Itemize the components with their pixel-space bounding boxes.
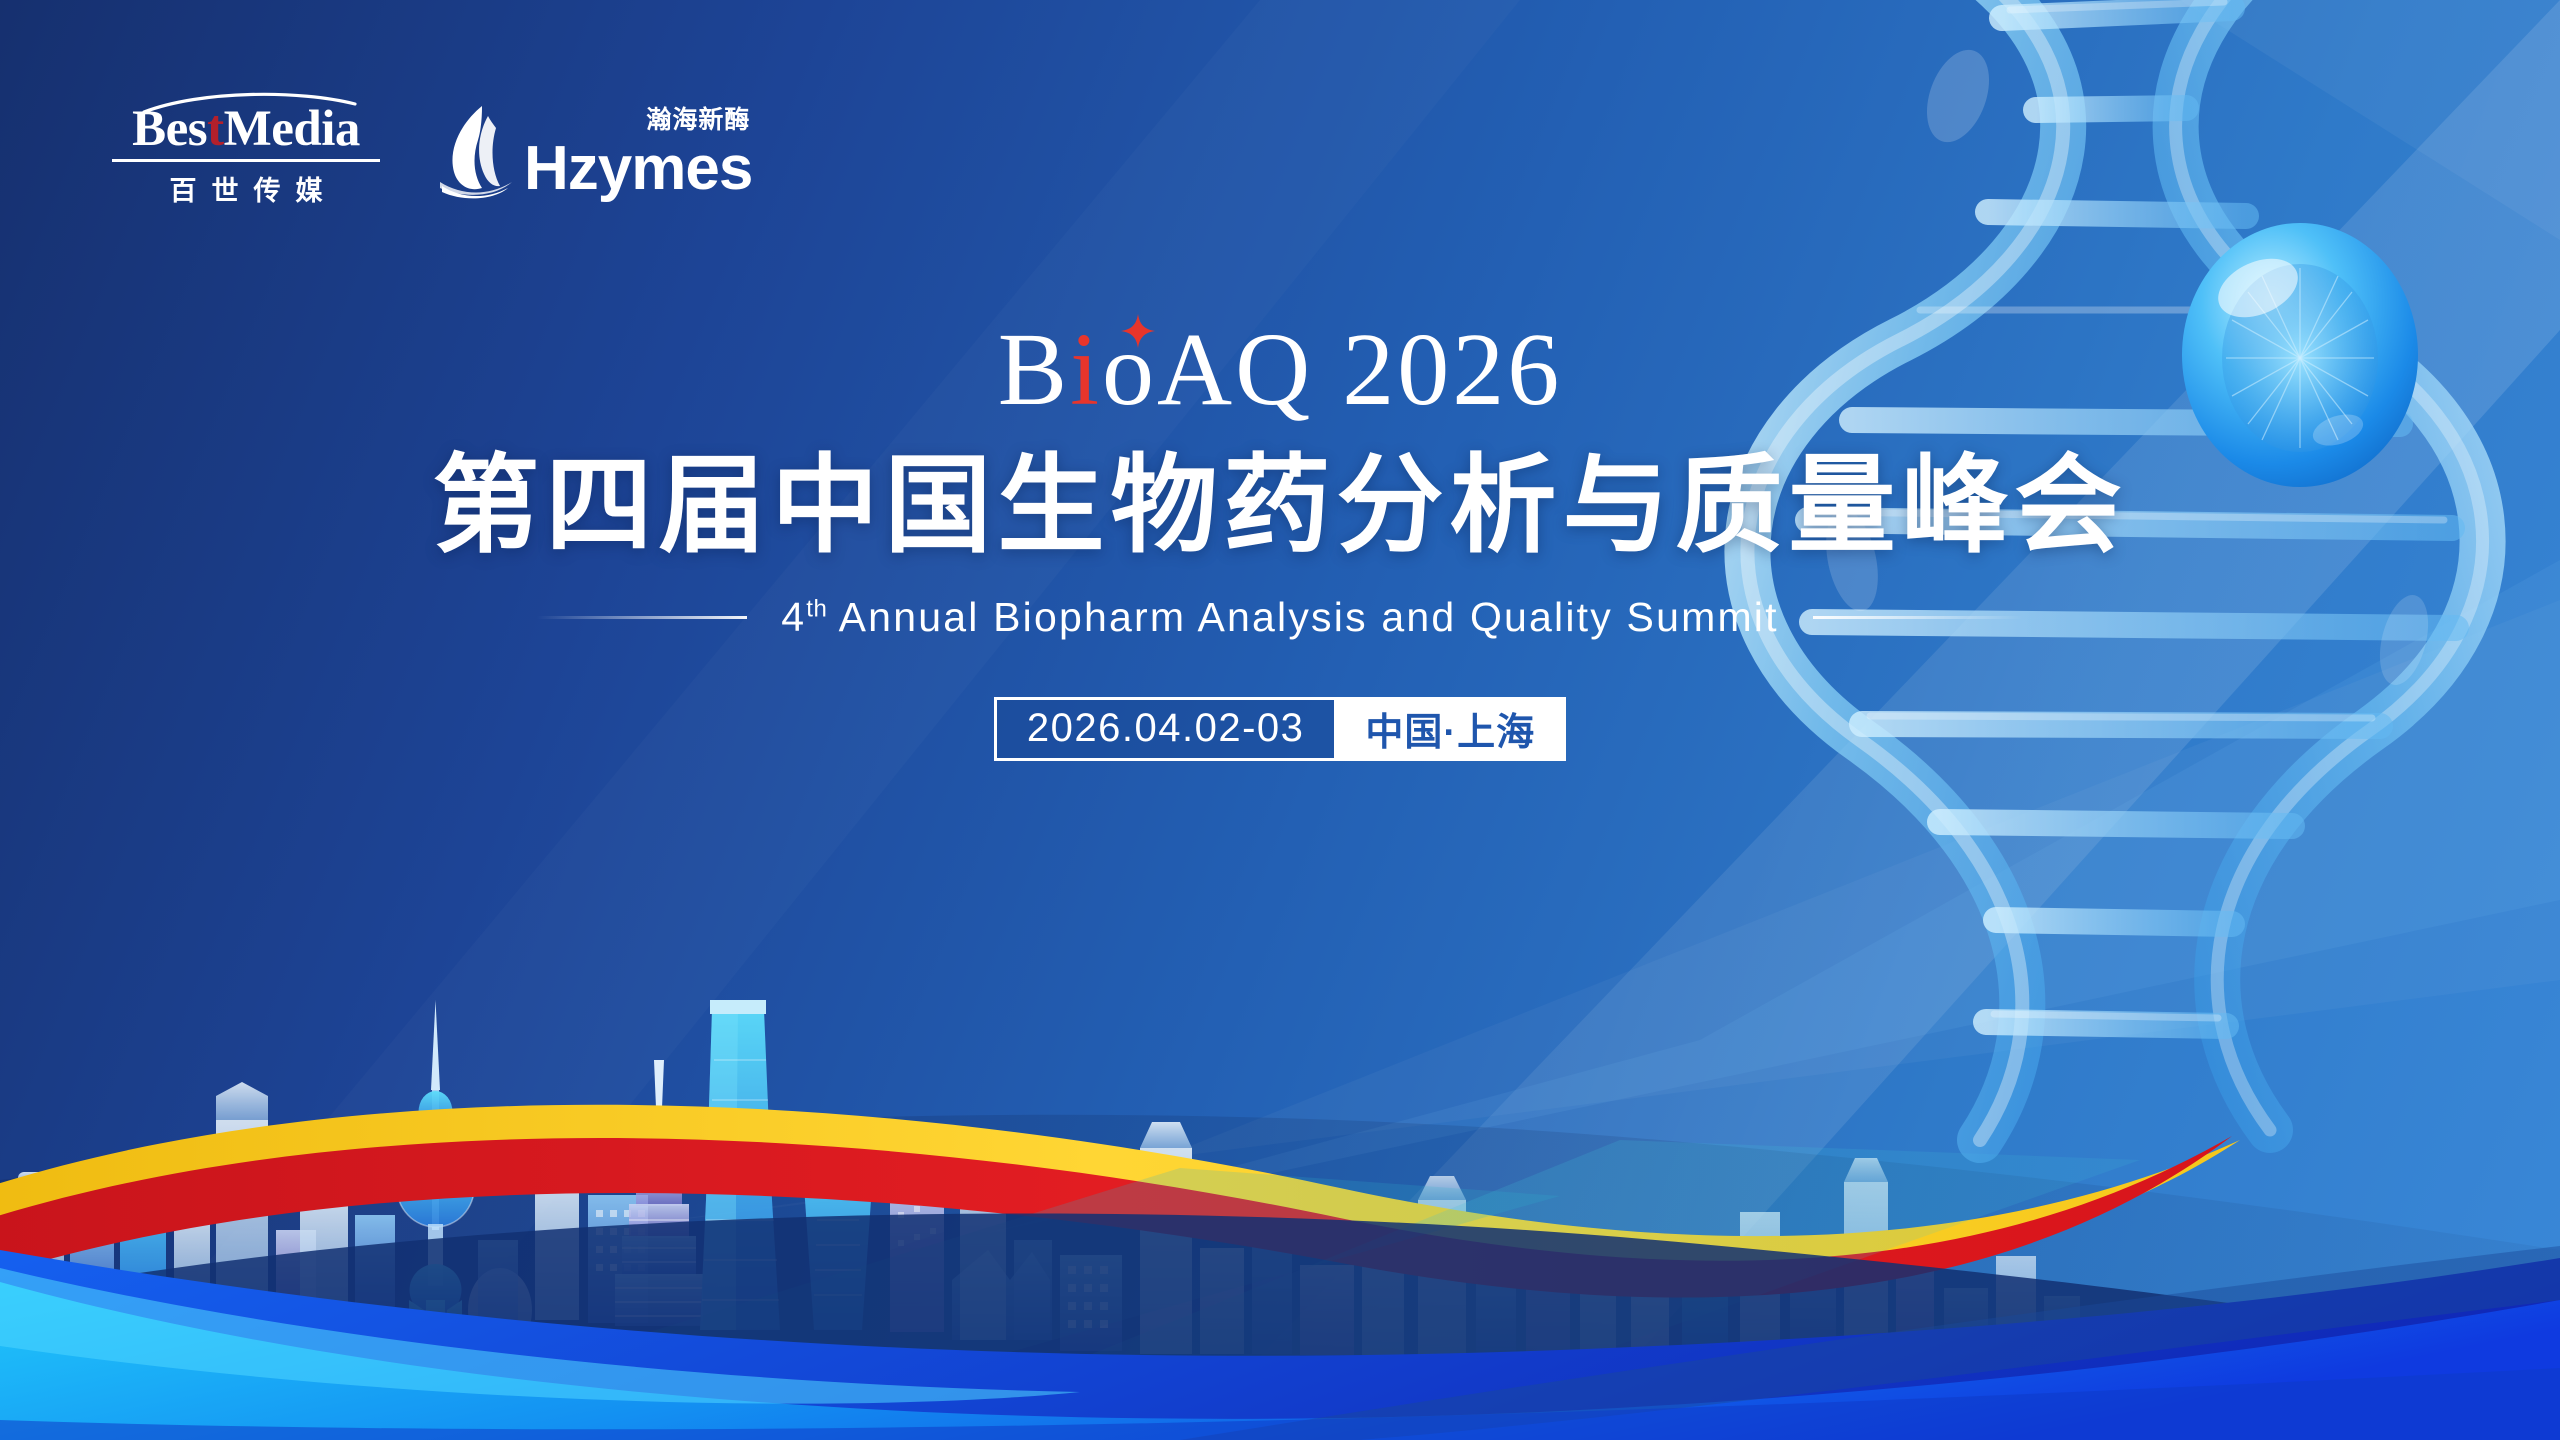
subtitle-ordinal-number: 4 — [781, 594, 806, 640]
logo-bestmedia[interactable]: BestMedia 百世传媒 — [112, 98, 380, 208]
event-meta-badges: 2026.04.02-03 中国·上海 — [0, 697, 2560, 761]
hzymes-wordmark: Hzymes — [524, 138, 752, 200]
event-title-en: BioAQ 2026 — [998, 318, 1563, 422]
bestmedia-chinese-name: 百世传媒 — [112, 169, 380, 208]
bestmedia-divider — [112, 159, 380, 162]
title-en-accent: i — [1070, 312, 1102, 427]
subtitle-rule-left — [537, 616, 747, 619]
event-subtitle-en: 4th Annual Biopharm Analysis and Quality… — [781, 594, 1778, 641]
subtitle-ordinal-suffix: th — [806, 595, 827, 622]
subtitle-rule-right — [1813, 616, 2023, 619]
bestmedia-word-after: Media — [224, 101, 360, 157]
four-point-star-icon — [1121, 314, 1155, 348]
banner-content: BioAQ 2026 第四届中国生物药分析与质量峰会 4th Annual Bi… — [0, 318, 2560, 761]
event-subtitle-row: 4th Annual Biopharm Analysis and Quality… — [0, 594, 2560, 641]
bestmedia-word-accent: t — [207, 101, 223, 157]
hzymes-chinese-name: 瀚海新酶 — [646, 100, 750, 136]
title-en-after: oAQ 2026 — [1102, 312, 1562, 427]
sponsor-logos: BestMedia 百世传媒 瀚海新酶 Hzymes — [112, 98, 752, 208]
logo-hzymes[interactable]: 瀚海新酶 Hzymes — [438, 98, 752, 200]
subtitle-rest: Annual Biopharm Analysis and Quality Sum… — [839, 594, 1779, 640]
conference-banner: BestMedia 百世传媒 瀚海新酶 Hzymes BioAQ 2026 — [0, 0, 2560, 1440]
event-date-badge: 2026.04.02-03 — [994, 697, 1338, 761]
bestmedia-wordmark: BestMedia — [112, 98, 380, 159]
title-en-before: B — [998, 312, 1070, 427]
event-title-cn: 第四届中国生物药分析与质量峰会 — [0, 448, 2560, 564]
bestmedia-word-before: Bes — [132, 101, 207, 157]
event-location-badge: 中国·上海 — [1337, 697, 1566, 761]
sail-leaf-icon — [438, 102, 516, 200]
